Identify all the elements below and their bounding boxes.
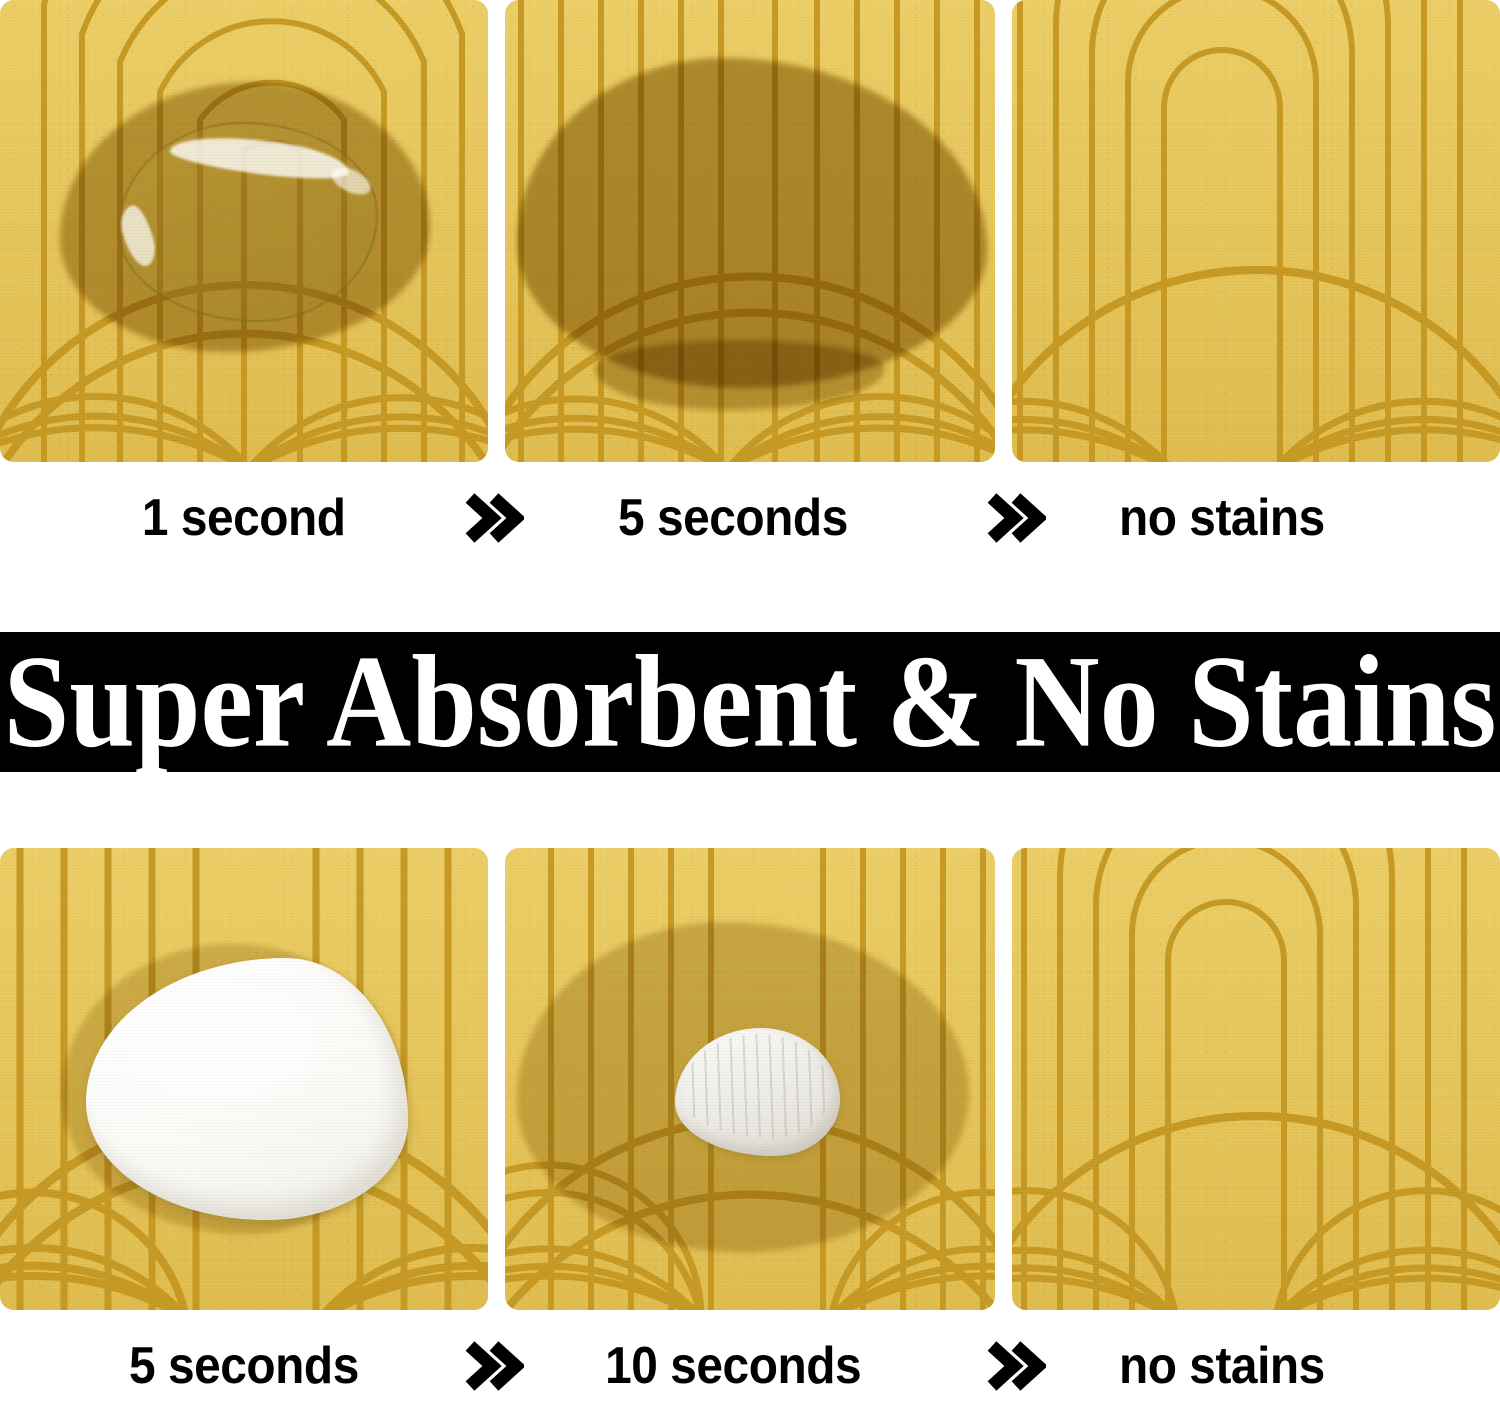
fabric-grain xyxy=(505,848,995,1310)
panel-row-milk xyxy=(0,848,1500,1310)
caption-water-1-second: 1 second xyxy=(142,488,346,548)
headline-banner: Super Absorbent & No Stains xyxy=(0,632,1500,772)
headline-text: Super Absorbent & No Stains xyxy=(4,636,1497,768)
double-chevron-right-icon xyxy=(984,490,1046,546)
panel-milk-10-seconds xyxy=(505,848,995,1310)
panel-row-water xyxy=(0,0,1500,462)
double-chevron-right-icon xyxy=(462,1338,524,1394)
caption-cell-6: no stains xyxy=(978,1316,1466,1404)
fabric-grain xyxy=(1012,848,1500,1310)
panel-milk-5-seconds xyxy=(0,848,488,1310)
fabric-grain xyxy=(0,848,488,1310)
double-chevron-right-icon xyxy=(984,1338,1046,1394)
caption-cell-5: 10 seconds xyxy=(488,1316,978,1404)
caption-water-5-seconds: 5 seconds xyxy=(618,488,848,548)
panel-milk-no-stains xyxy=(1012,848,1500,1310)
fabric-grain xyxy=(0,0,488,462)
panel-water-no-stains xyxy=(1012,0,1500,462)
caption-cell-4: 5 seconds xyxy=(0,1316,488,1404)
caption-milk-10-seconds: 10 seconds xyxy=(605,1336,861,1396)
caption-cell-3: no stains xyxy=(978,468,1466,568)
double-chevron-right-icon xyxy=(462,490,524,546)
caption-cell-1: 1 second xyxy=(0,468,488,568)
fabric-grain xyxy=(1012,0,1500,462)
caption-milk-no-stains: no stains xyxy=(1119,1336,1325,1396)
caption-cell-2: 5 seconds xyxy=(488,468,978,568)
caption-water-no-stains: no stains xyxy=(1119,488,1325,548)
product-infographic: 1 second 5 seconds no stains Super Absor… xyxy=(0,0,1500,1404)
caption-row-milk: 5 seconds 10 seconds no stains xyxy=(0,1316,1500,1404)
caption-row-water: 1 second 5 seconds no stains xyxy=(0,468,1500,568)
panel-water-1-second xyxy=(0,0,488,462)
panel-water-5-seconds xyxy=(505,0,995,462)
caption-milk-5-seconds: 5 seconds xyxy=(129,1336,359,1396)
fabric-grain xyxy=(505,0,995,462)
